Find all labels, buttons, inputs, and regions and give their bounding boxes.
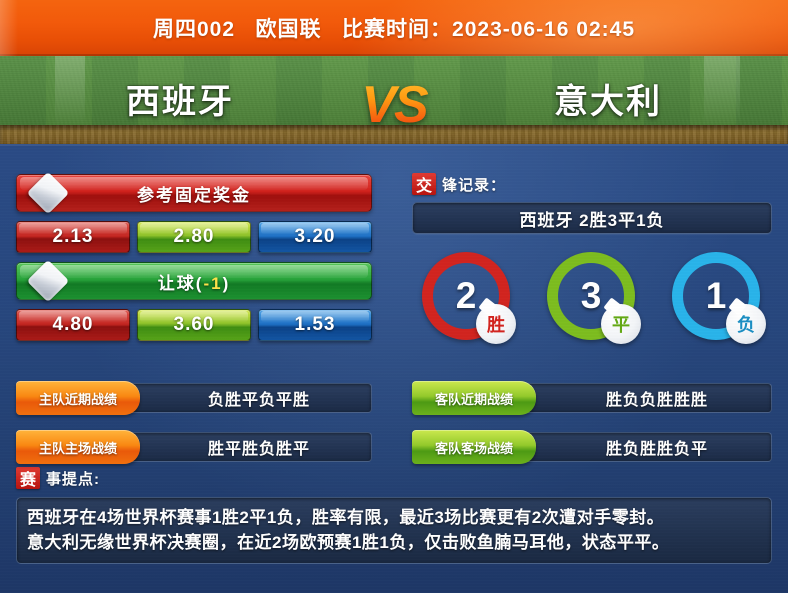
h2h-draw-label: 平: [612, 311, 630, 337]
header-bar: 周四002 欧国联 比赛时间：2023-06-16 02:45: [0, 0, 788, 56]
fixed-bonus-title: 参考固定奖金: [137, 181, 251, 206]
h2h-win-label: 胜: [487, 311, 505, 337]
away-team-name: 意大利: [428, 74, 788, 122]
match-notes-section: 赛 事提点: 西班牙在4场世界杯赛事1胜2平1负，胜率有限，最近3场比赛更有2次…: [16, 466, 772, 564]
home-recent-form-row: 主队近期战绩 负胜平负平胜: [16, 383, 372, 413]
odds-draw-value: 2.80: [174, 226, 215, 248]
handicap-title-prefix: 让球(: [158, 274, 204, 293]
header-title: 周四002 欧国联 比赛时间：2023-06-16 02:45: [0, 0, 788, 56]
away-recent-form-tag: 客队近期战绩: [412, 381, 536, 415]
notes-badge-icon: 赛: [16, 467, 40, 489]
main-panel: 参考固定奖金 2.13 2.80 3.20 让球(-1: [0, 144, 788, 593]
fixed-bonus-title-bar: 参考固定奖金: [16, 174, 372, 212]
head-to-head-section: 交 锋记录： 西班牙 2胜3平1负 2 胜 3 平 1 负: [412, 172, 772, 340]
handicap-draw-button[interactable]: 3.60: [137, 309, 251, 341]
away-recent-form-row: 客队近期战绩 胜负负胜胜胜: [412, 383, 772, 413]
handicap-title-suffix: ): [223, 274, 231, 293]
home-recent-form-value: 负胜平负平胜: [120, 383, 372, 413]
away-form-section: 客队近期战绩 胜负负胜胜胜 客队客场战绩 胜负胜胜负平: [412, 372, 772, 462]
h2h-win-badge: 胜: [476, 304, 516, 344]
odds-away-win-value: 3.20: [295, 226, 336, 248]
odds-away-win-button[interactable]: 3.20: [258, 221, 372, 253]
away-away-form-value: 胜负胜胜负平: [516, 432, 772, 462]
h2h-heading-text: 锋记录：: [442, 174, 506, 195]
head-to-head-heading: 交 锋记录：: [412, 172, 772, 196]
h2h-ring-win: 2 胜: [422, 252, 510, 340]
notes-heading-text: 事提点:: [46, 468, 100, 489]
home-home-form-row: 主队主场战绩 胜平胜负胜平: [16, 432, 372, 462]
home-home-form-tag: 主队主场战绩: [16, 430, 140, 464]
fixed-bonus-odds-row: 2.13 2.80 3.20: [16, 221, 372, 253]
h2h-ring-draw: 3 平: [547, 252, 635, 340]
notes-heading: 赛 事提点:: [16, 466, 772, 490]
away-away-form-row: 客队客场战绩 胜负胜胜负平: [412, 432, 772, 462]
handicap-away-win-button[interactable]: 1.53: [258, 309, 372, 341]
h2h-ring-lose: 1 负: [672, 252, 760, 340]
odds-section: 参考固定奖金 2.13 2.80 3.20 让球(-1: [16, 174, 372, 341]
away-away-form-tag: 客队客场战绩: [412, 430, 536, 464]
handicap-draw-value: 3.60: [174, 314, 215, 336]
handicap-away-win-value: 1.53: [295, 314, 336, 336]
h2h-draw-badge: 平: [601, 304, 641, 344]
h2h-lose-label: 负: [737, 311, 755, 337]
diamond-gem-icon: [27, 172, 69, 214]
odds-home-win-value: 2.13: [53, 226, 94, 248]
home-home-form-value: 胜平胜负胜平: [120, 432, 372, 462]
teams-banner: 西班牙 VS 意大利: [0, 56, 788, 144]
notes-box: 西班牙在4场世界杯赛事1胜2平1负，胜率有限，最近3场比赛更有2次遭对手零封。 …: [16, 497, 772, 564]
home-recent-form-tag: 主队近期战绩: [16, 381, 140, 415]
notes-line-1: 西班牙在4场世界杯赛事1胜2平1负，胜率有限，最近3场比赛更有2次遭对手零封。: [27, 505, 761, 530]
match-preview-card: 周四002 欧国联 比赛时间：2023-06-16 02:45 西班牙 VS 意…: [0, 0, 788, 593]
h2h-lose-badge: 负: [726, 304, 766, 344]
h2h-badge-icon: 交: [412, 173, 436, 195]
handicap-home-win-button[interactable]: 4.80: [16, 309, 130, 341]
diamond-gem-icon: [27, 260, 69, 302]
notes-line-2: 意大利无缘世界杯决赛圈，在近2场欧预赛1胜1负，仅击败鱼腩马耳他，状态平平。: [27, 530, 761, 555]
handicap-odds-row: 4.80 3.60 1.53: [16, 309, 372, 341]
handicap-title-bar: 让球(-1): [16, 262, 372, 300]
home-form-section: 主队近期战绩 负胜平负平胜 主队主场战绩 胜平胜负胜平: [16, 372, 372, 462]
handicap-title: 让球(-1): [158, 269, 230, 294]
h2h-summary-bar: 西班牙 2胜3平1负: [412, 202, 772, 234]
h2h-rings: 2 胜 3 平 1 负: [412, 252, 772, 340]
handicap-value: -1: [203, 274, 222, 293]
home-team-name: 西班牙: [0, 74, 360, 122]
away-recent-form-value: 胜负负胜胜胜: [516, 383, 772, 413]
odds-draw-button[interactable]: 2.80: [137, 221, 251, 253]
handicap-home-win-value: 4.80: [53, 314, 94, 336]
odds-home-win-button[interactable]: 2.13: [16, 221, 130, 253]
